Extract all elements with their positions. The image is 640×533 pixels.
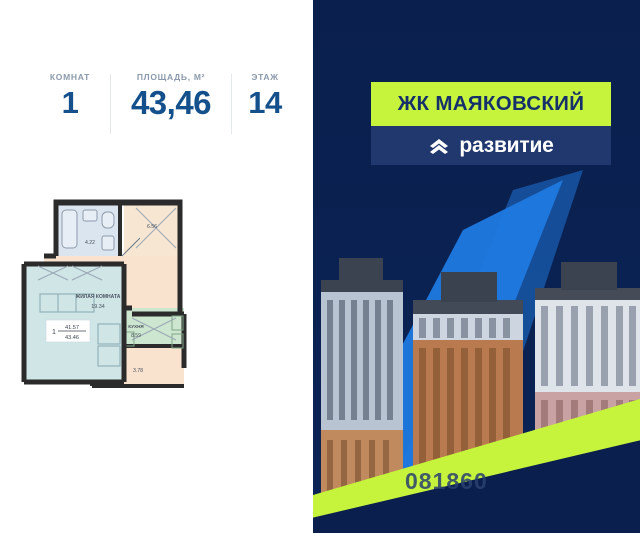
developer-name-text: развитие — [459, 134, 553, 158]
branding-panel: ЖК МАЯКОВСКИЙ развитие — [313, 0, 640, 533]
stat-area: ПЛОЩАДЬ, М² 43,46 — [111, 72, 231, 120]
complex-name-text: ЖК МАЯКОВСКИЙ — [398, 92, 585, 116]
living-room-name: ЖИЛАЯ КОМНАТА — [75, 294, 121, 300]
watermark-digits: 081860 — [405, 468, 488, 495]
area-badge-living: 41.57 — [65, 325, 79, 331]
stat-floor-label: ЭТАЖ — [251, 72, 278, 82]
brand-logo: ЖК МАЯКОВСКИЙ развитие — [371, 82, 611, 165]
label-loggia-area: 6.56 — [147, 224, 157, 230]
branding-artwork — [313, 0, 640, 533]
stat-floor: ЭТАЖ 14 — [232, 72, 298, 120]
floorplan-panel: КОМНАТ 1 ПЛОЩАДЬ, М² 43,46 ЭТАЖ 14 — [0, 0, 313, 533]
stat-rooms: КОМНАТ 1 — [30, 72, 110, 120]
area-badge: 1 41.57 43.46 — [46, 320, 90, 342]
stat-rooms-label: КОМНАТ — [50, 72, 90, 82]
living-room-area: 19.34 — [91, 304, 105, 310]
stat-area-value: 43,46 — [131, 86, 211, 120]
living-room-block: ЖИЛАЯ КОМНАТА 19.34 1 41.57 43.46 — [12, 258, 142, 393]
label-bathroom-area: 4.22 — [85, 240, 95, 246]
floorplan-drawing: 4.22 6.56 ЖИЛАЯ КОМНАТА 19.34 КУХНЯ 8.59… — [36, 196, 296, 396]
listing-card: КОМНАТ 1 ПЛОЩАДЬ, М² 43,46 ЭТАЖ 14 — [0, 0, 640, 533]
stat-rooms-value: 1 — [62, 86, 79, 120]
developer-badge: развитие — [371, 126, 611, 165]
area-badge-total: 43.46 — [65, 335, 79, 341]
stat-area-label: ПЛОЩАДЬ, М² — [137, 72, 205, 82]
stat-floor-value: 14 — [248, 86, 281, 120]
complex-name-badge: ЖК МАЯКОВСКИЙ — [371, 82, 611, 126]
room-loggia-upper-fill — [124, 202, 180, 264]
apartment-stats: КОМНАТ 1 ПЛОЩАДЬ, М² 43,46 ЭТАЖ 14 — [30, 72, 300, 134]
double-chevron-up-icon — [428, 136, 450, 156]
area-badge-rooms: 1 — [52, 329, 56, 336]
